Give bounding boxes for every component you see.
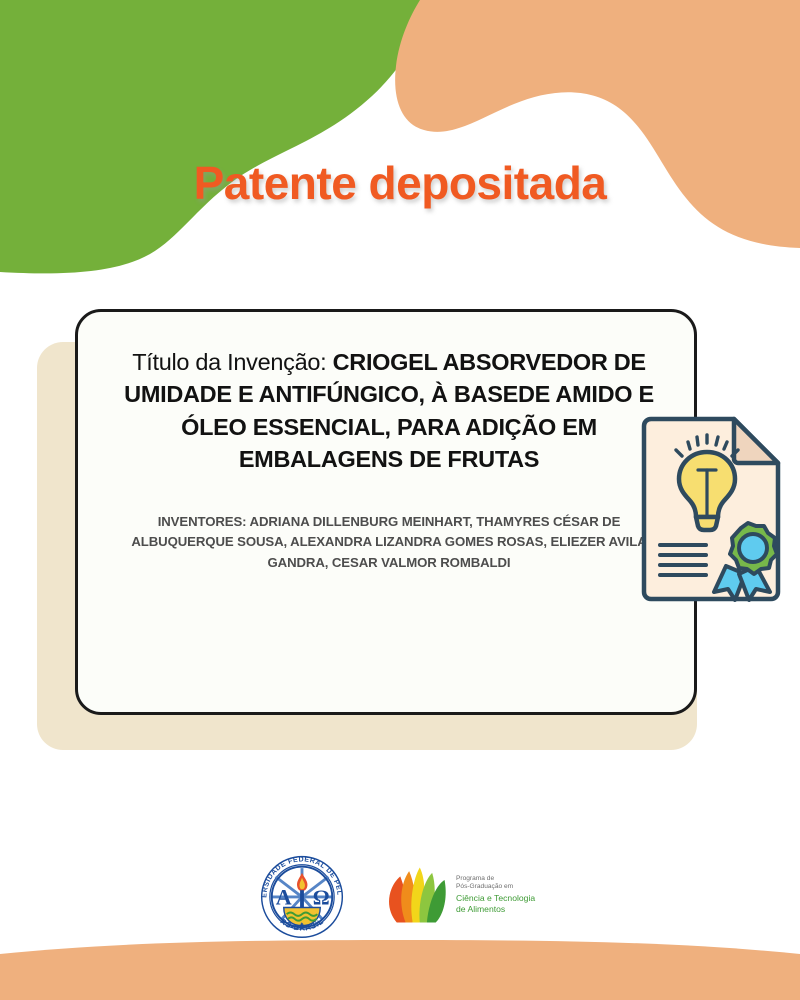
document-fold-corner [734,419,778,463]
inventors-list: INVENTORES: ADRIANA DILLENBURG MEINHART,… [106,512,672,573]
ppg-line-2: Pós-Graduação em [456,883,535,891]
ufpel-letter-a: A [276,885,292,910]
ppg-line-4: de Alimentos [456,904,535,915]
invention-card-content: Título da Invenção: CRIOGEL ABSORVEDOR D… [78,312,700,718]
award-rosette-center [739,534,767,562]
ppg-line-3: Ciência e Tecnologia [456,893,535,904]
ufpel-seal-logo: A Ω ✦ UNIVERSIDADE FEDERAL DE PELOTAS RS… [254,843,350,947]
ppg-text-block: Programa de Pós-Graduação em Ciência e T… [456,875,535,915]
invention-title: Título da Invenção: CRIOGEL ABSORVEDOR D… [106,346,672,476]
ppg-line-1: Programa de [456,875,535,883]
ufpel-torch-stem [300,890,304,907]
footer-logos: A Ω ✦ UNIVERSIDADE FEDERAL DE PELOTAS RS… [0,840,800,950]
peach-blob-shape [395,0,800,248]
headline-container: Patente depositada [0,158,800,209]
poster-canvas: Patente depositada Título da Invenção: C… [0,0,800,1000]
invention-card: Título da Invenção: CRIOGEL ABSORVEDOR D… [75,309,697,715]
invention-title-label: Título da Invenção: [132,349,332,375]
ppg-cta-logo: Programa de Pós-Graduação em Ciência e T… [386,856,546,934]
green-blob-shape [0,0,430,273]
patent-document-icon [638,416,784,602]
ufpel-letter-omega: Ω [313,886,330,910]
ppg-leaf-mark [386,864,450,926]
page-title: Patente depositada [194,158,607,209]
lightbulb-base [696,517,718,530]
